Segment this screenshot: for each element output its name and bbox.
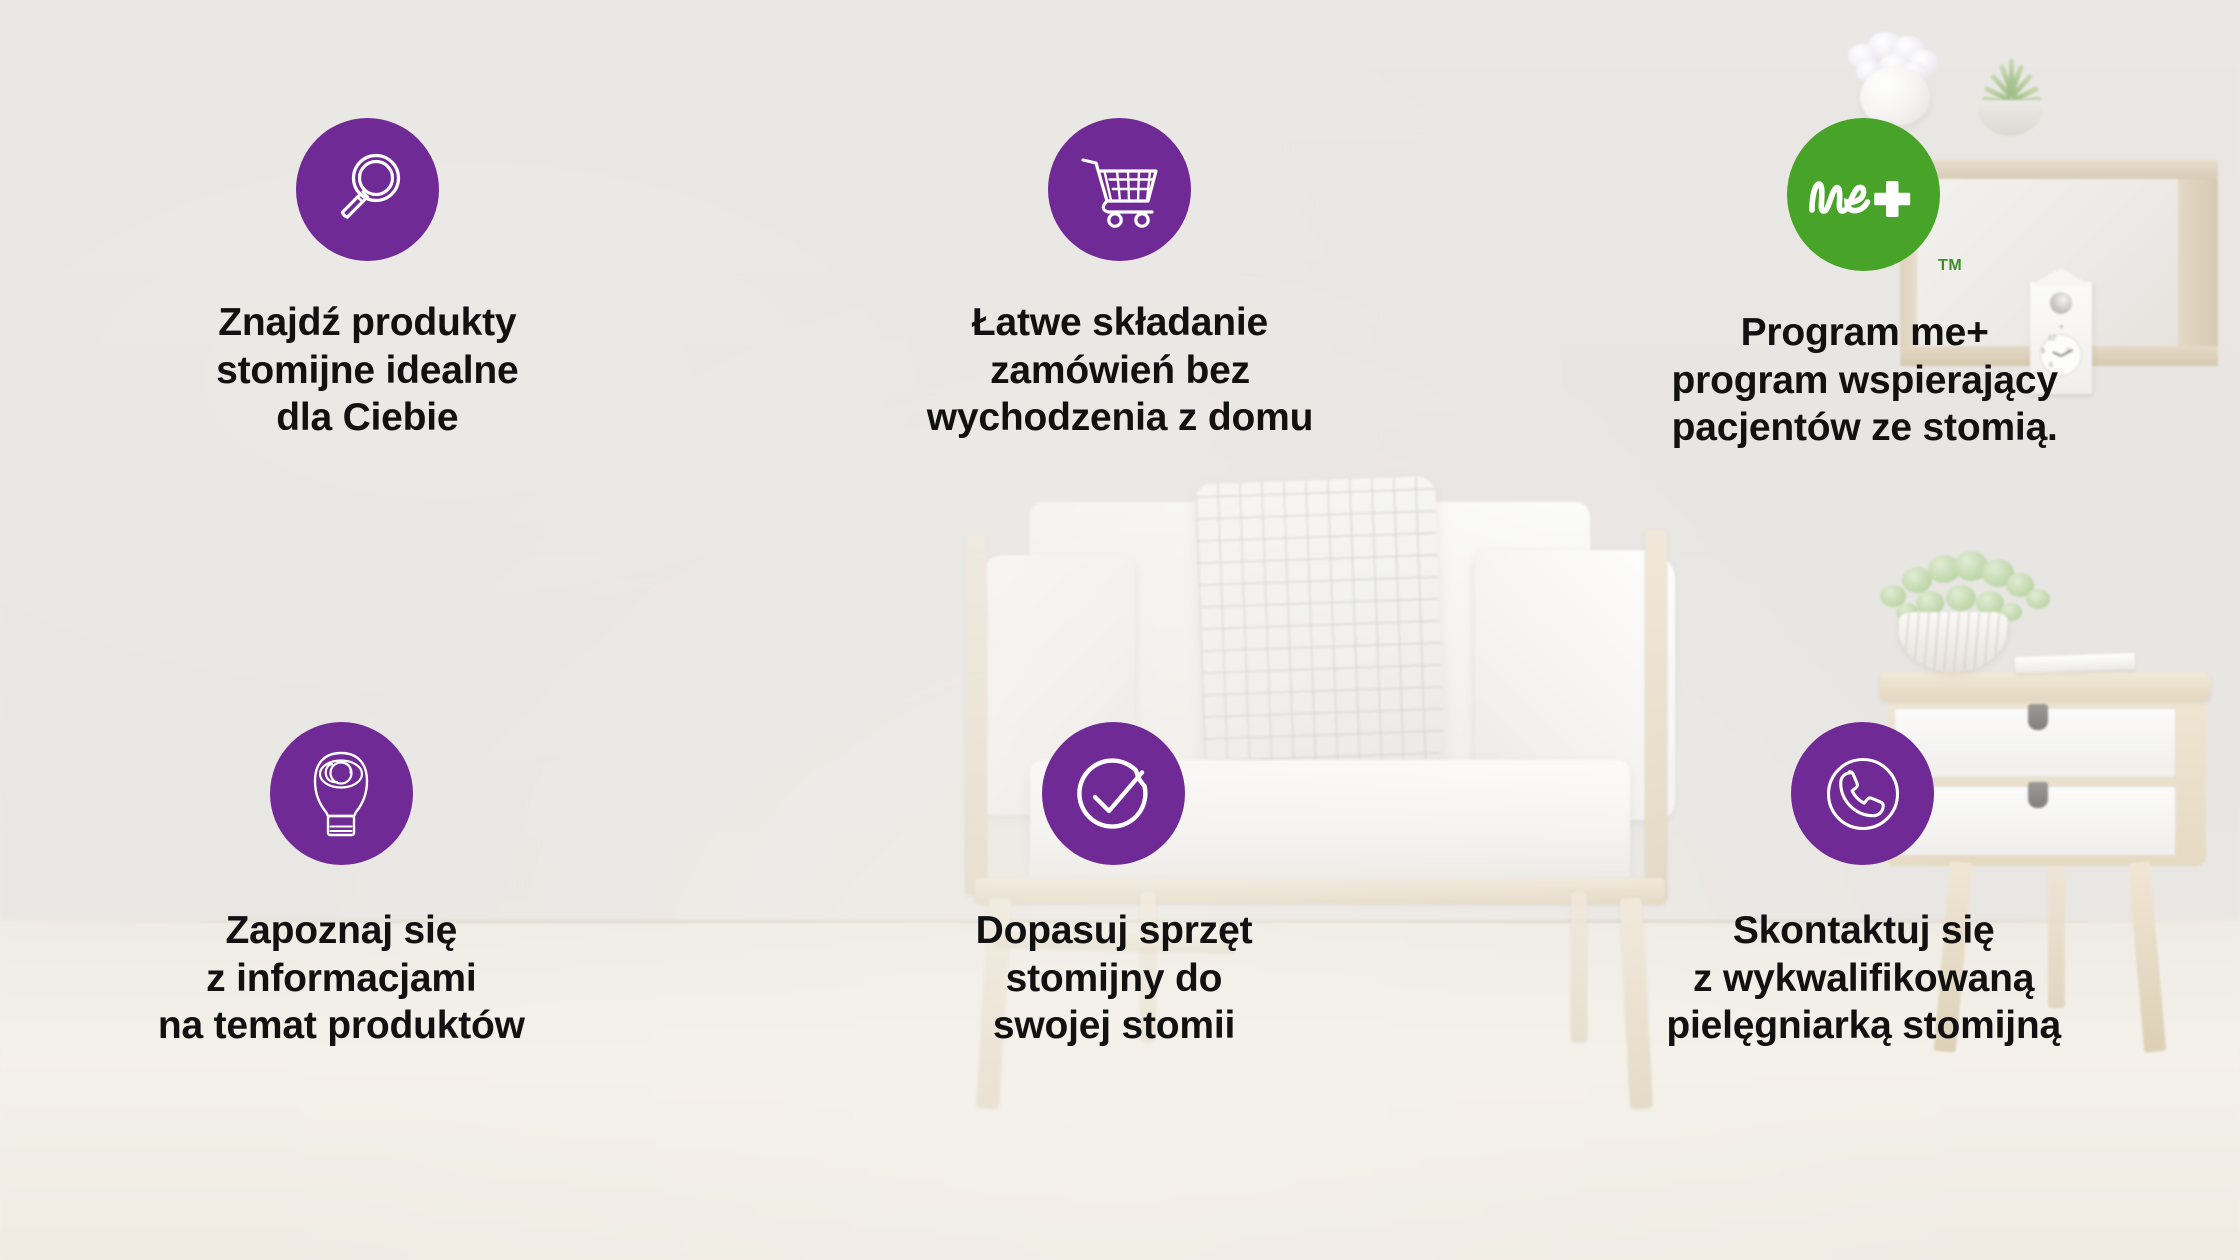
feature-grid: Znajdź produkty stomijne idealne dla Cie… [0, 0, 2240, 1260]
check-circle-icon[interactable] [1042, 722, 1185, 865]
feature-caption: Łatwe składanie zamówień bez wychodzenia… [927, 299, 1313, 442]
shopping-cart-icon[interactable] [1048, 118, 1191, 261]
feature-caption: Dopasuj sprzęt stomijny do swojej stomii [976, 907, 1253, 1050]
feature-item-easy-ordering[interactable]: Łatwe składanie zamówień bez wychodzenia… [747, 0, 1494, 630]
feature-caption: Zapoznaj się z informacjami na temat pro… [158, 907, 525, 1050]
feature-caption: Program me+ program wspierający pacjentó… [1671, 309, 2057, 452]
feature-item-find-products[interactable]: Znajdź produkty stomijne idealne dla Cie… [0, 0, 747, 630]
trademark-symbol: TM [1938, 257, 1962, 275]
feature-item-fit-equipment[interactable]: Dopasuj sprzęt stomijny do swojej stomii [747, 630, 1494, 1260]
ostomy-pouch-icon[interactable] [270, 722, 413, 865]
feature-caption: Skontaktuj się z wykwalifikowaną pielęgn… [1666, 907, 2061, 1050]
me-plus-logo[interactable]: TM [1787, 118, 1940, 271]
promo-banner: 12 3 6 9 [0, 0, 2240, 1260]
phone-icon[interactable] [1791, 722, 1934, 865]
feature-caption: Znajdź produkty stomijne idealne dla Cie… [216, 299, 518, 442]
feature-item-contact-nurse[interactable]: Skontaktuj się z wykwalifikowaną pielęgn… [1493, 630, 2240, 1260]
feature-item-product-information[interactable]: Zapoznaj się z informacjami na temat pro… [0, 630, 747, 1260]
magnifier-icon[interactable] [296, 118, 439, 261]
feature-item-me-plus[interactable]: TM Program me+ program wspierający pacje… [1493, 0, 2240, 630]
